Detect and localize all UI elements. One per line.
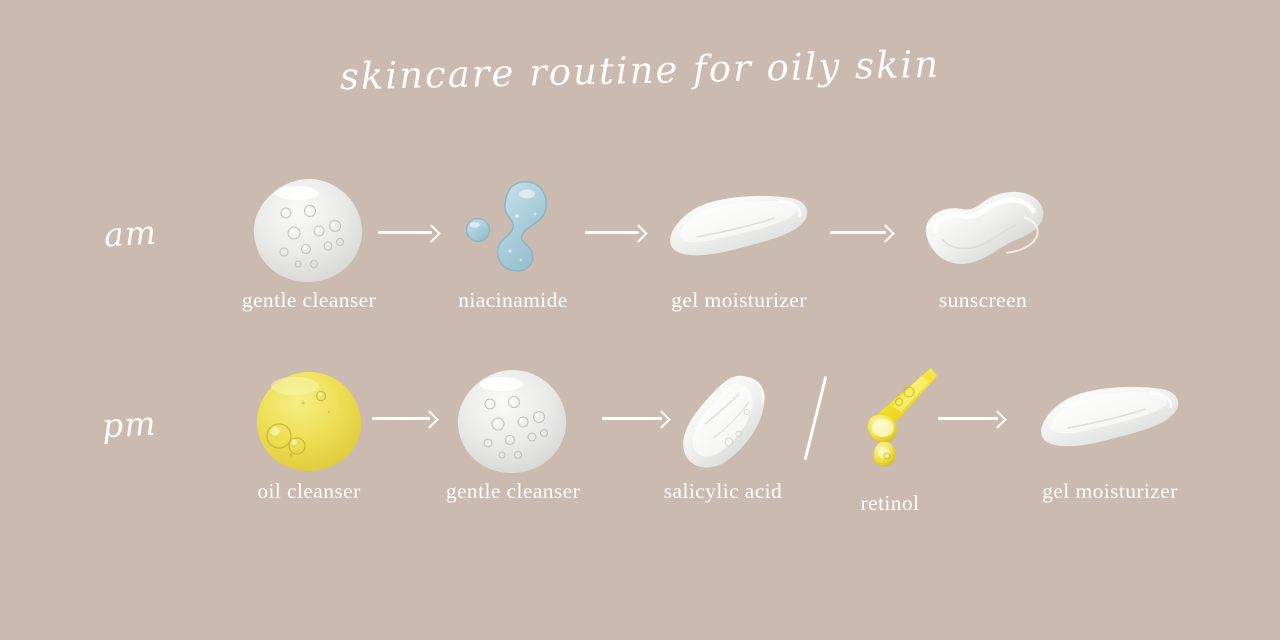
step-label: gel moisturizer (1026, 481, 1194, 503)
swatch-pm-gentle-cleanser (432, 363, 594, 481)
step-am-gentle-cleanser[interactable]: gentle cleanser (228, 172, 390, 312)
step-am-sunscreen[interactable]: sunscreen (902, 172, 1064, 312)
step-label: niacinamide (432, 290, 594, 312)
yellow-oil-drop-icon (255, 370, 363, 474)
white-cream-smear-icon (1038, 384, 1183, 460)
arrow-right-icon-am-3 (830, 225, 892, 239)
arrow-right-icon-am-2 (585, 225, 645, 239)
arrow-right-icon-pm-1 (372, 411, 436, 425)
swatch-pm-salicylic-acid (648, 363, 798, 481)
clear-gel-blob-icon (454, 367, 572, 477)
blue-serum-drop-icon (465, 178, 561, 284)
step-label: retinol (822, 493, 958, 515)
step-label: gentle cleanser (228, 290, 390, 312)
step-pm-oil-cleanser[interactable]: oil cleanser (228, 363, 390, 503)
step-am-gel-moisturizer[interactable]: gel moisturizer (655, 172, 823, 312)
swatch-am-niacinamide (432, 172, 594, 290)
swatch-pm-retinol (822, 363, 958, 487)
daypart-label-pm: pm (101, 404, 157, 446)
step-label: gel moisturizer (655, 290, 823, 312)
white-cream-swoosh-icon (918, 189, 1048, 273)
step-label: gentle cleanser (432, 481, 594, 503)
white-cream-smear-icon (667, 193, 812, 269)
step-pm-salicylic-acid[interactable]: salicylic acid (648, 363, 798, 503)
yellow-oil-dropper-icon (843, 368, 937, 472)
swatch-am-gentle-cleanser (228, 172, 390, 290)
arrow-right-icon-pm-3 (938, 411, 1004, 425)
step-label: sunscreen (902, 290, 1064, 312)
infographic-canvas: skincare routine for oily skin am (0, 0, 1280, 640)
step-label: oil cleanser (228, 481, 390, 503)
swatch-am-sunscreen (902, 172, 1064, 290)
page-title: skincare routine for oily skin (0, 39, 1280, 103)
step-label: salicylic acid (648, 481, 798, 503)
step-am-niacinamide[interactable]: niacinamide (432, 172, 594, 312)
step-pm-retinol[interactable]: retinol (822, 363, 958, 515)
swatch-am-gel-moisturizer (655, 172, 823, 290)
swatch-pm-oil-cleanser (228, 363, 390, 481)
step-pm-gel-moisturizer[interactable]: gel moisturizer (1026, 363, 1194, 503)
daypart-label-am: am (103, 213, 158, 255)
arrow-right-icon-am-1 (378, 225, 438, 239)
white-cream-dollop-icon (677, 372, 769, 472)
step-pm-gentle-cleanser[interactable]: gentle cleanser (432, 363, 594, 503)
clear-gel-blob-icon (250, 176, 368, 286)
swatch-pm-gel-moisturizer (1026, 363, 1194, 481)
